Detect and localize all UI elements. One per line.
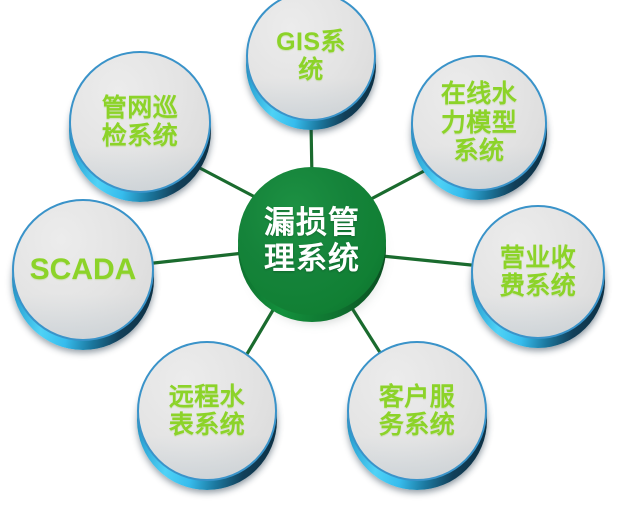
hub-disc-top: 漏损管 理系统 — [238, 167, 386, 315]
hub-label: 漏损管 理系统 — [264, 205, 360, 277]
node-gis[interactable]: GIS系 统 — [246, 0, 376, 121]
node-label-gis: GIS系 统 — [270, 28, 352, 85]
node-label-billing-revenue: 营业收 费系统 — [494, 244, 582, 301]
node-label-online-hydraulic-model: 在线水 力模型 系统 — [435, 80, 523, 166]
node-online-hydraulic-model[interactable]: 在线水 力模型 系统 — [411, 55, 547, 191]
node-disc-top: 营业收 费系统 — [471, 205, 605, 339]
node-label-remote-water-meter: 远程水 表系统 — [163, 383, 251, 440]
system-integration-diagram: GIS系 统管网巡 检系统在线水 力模型 系统SCADA营业收 费系统远程水 表… — [0, 0, 618, 508]
node-disc-top: 客户服 务系统 — [347, 341, 487, 481]
node-disc-top: SCADA — [12, 199, 154, 341]
node-label-pipe-network-inspection: 管网巡 检系统 — [96, 94, 184, 151]
node-label-customer-service: 客户服 务系统 — [373, 383, 461, 440]
node-remote-water-meter[interactable]: 远程水 表系统 — [137, 341, 277, 481]
node-disc-top: 在线水 力模型 系统 — [411, 55, 547, 191]
edge-hub-billing-revenue — [382, 256, 471, 265]
node-label-scada: SCADA — [24, 253, 143, 287]
node-pipe-network-inspection[interactable]: 管网巡 检系统 — [69, 51, 211, 193]
node-disc-top: 管网巡 检系统 — [69, 51, 211, 193]
node-disc-top: 远程水 表系统 — [137, 341, 277, 481]
edge-hub-scada — [154, 253, 244, 263]
node-billing-revenue[interactable]: 营业收 费系统 — [471, 205, 605, 339]
node-scada[interactable]: SCADA — [12, 199, 154, 341]
hub-node-leakage-management-system[interactable]: 漏损管 理系统 — [238, 167, 386, 315]
node-customer-service[interactable]: 客户服 务系统 — [347, 341, 487, 481]
